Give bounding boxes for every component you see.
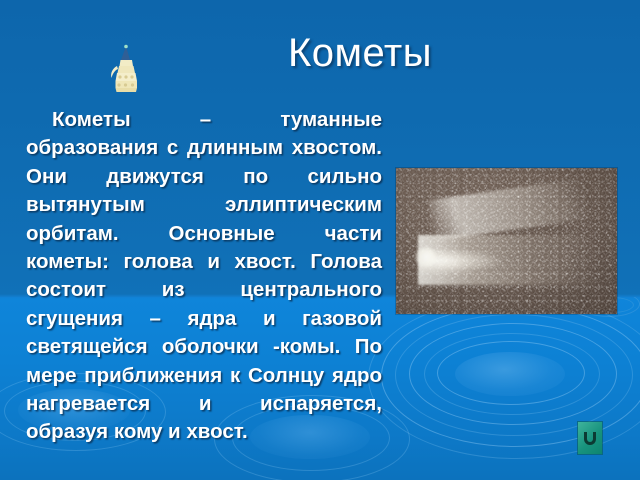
body-paragraph: Кометы – туманные образования с длинным … bbox=[26, 106, 382, 447]
comet-photograph bbox=[396, 168, 617, 314]
page-title: Кометы bbox=[150, 29, 570, 77]
photo-vignette bbox=[396, 168, 617, 314]
u-glyph-icon bbox=[584, 432, 596, 445]
corner-badge[interactable] bbox=[578, 422, 602, 454]
comet-clipart-icon bbox=[108, 44, 142, 96]
presentation-slide: Кометы Кометы – туманные образования с д… bbox=[0, 0, 640, 480]
